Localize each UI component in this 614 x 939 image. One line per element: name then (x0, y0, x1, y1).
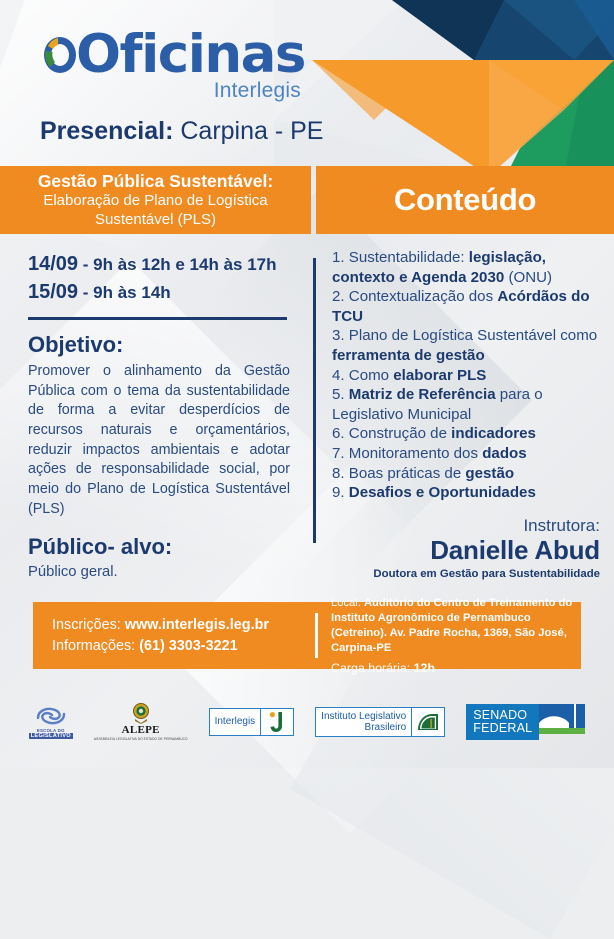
contact-bar: Inscrições: www.interlegis.leg.br Inform… (33, 602, 581, 669)
presencial-line: Presencial: Carpina - PE (40, 117, 323, 146)
venue-info: Local: Auditório do Centro de Treinament… (318, 602, 581, 669)
schedule-time-1: - 9h às 12h e 14h às 17h (78, 255, 276, 274)
list-item: 4. Como elaborar PLS (332, 366, 604, 386)
schedule-date-2: 15/09 (28, 281, 78, 303)
logo-wordmark: Oficinas (76, 28, 305, 81)
topic-bold: Matriz de Referência (349, 386, 496, 403)
list-item: 2. Contextualização dos Acórdãos do TCU (332, 287, 604, 326)
oficinas-logo: Oficinas Interlegis (40, 28, 305, 103)
interlegis-j-glyph (266, 709, 288, 735)
topic-text: Plano de Logística Sustentável como (349, 327, 597, 344)
schedule-time-2: - 9h às 14h (78, 283, 171, 302)
instructor-description: Doutora em Gestão para Sustentabilidade (332, 568, 600, 580)
topic-bold: gestão (465, 465, 514, 482)
objective-heading: Objetivo: (28, 332, 290, 358)
topic-number: 1. (332, 249, 349, 266)
presencial-label: Presencial: (40, 117, 173, 145)
alepe-subtitle: ASSEMBLEIA LEGISLATIVA DO ESTADO DE PERN… (94, 737, 188, 741)
topic-number: 9. (332, 484, 349, 501)
instructor-block: Instrutora: Danielle Abud Doutora em Ges… (332, 517, 604, 580)
schedule-line-2: 15/09 - 9h às 14h (28, 278, 290, 306)
topic-number: 8. (332, 465, 349, 482)
topic-number: 3. (332, 327, 349, 344)
course-title: Gestão Pública Sustentável: (38, 171, 273, 191)
list-item: 8. Boas práticas de gestão (332, 464, 604, 484)
list-item: 6. Construção de indicadores (332, 424, 604, 444)
list-item: 1. Sustentabilidade: legislação, context… (332, 248, 604, 287)
content-topic-list: 1. Sustentabilidade: legislação, context… (332, 248, 604, 503)
schedule-block: 14/09 - 9h às 12h e 14h às 17h 15/09 - 9… (28, 250, 290, 307)
presencial-city: Carpina - PE (173, 117, 323, 145)
list-item: 3. Plano de Logística Sustentável como f… (332, 326, 604, 365)
list-item: 5. Matriz de Referência para o Legislati… (332, 385, 604, 424)
senado-label: SENADO FEDERAL (466, 704, 539, 740)
topic-number: 5. (332, 386, 349, 403)
header-geometric-artwork (274, 0, 614, 176)
senado-building-icon (539, 704, 585, 740)
topic-tail: (ONU) (504, 269, 552, 286)
interlegis-o-mark-icon (40, 33, 80, 77)
info-phone: (61) 3303-3221 (139, 638, 237, 654)
topic-bold: Desafios e Oportunidades (349, 484, 536, 501)
contact-info: Inscrições: www.interlegis.leg.br Inform… (33, 602, 315, 669)
alepe-crest-icon (132, 702, 150, 724)
venue-address: Auditório do Centro de Treinamento do In… (331, 597, 572, 653)
section-divider (28, 317, 287, 320)
content-heading: Conteúdo (394, 182, 536, 218)
topic-bold: indicadores (451, 425, 536, 442)
footer-logo-strip: ESCOLA DO LEGISLATIVO ALEPE ASSEMBLEIA L… (0, 670, 614, 768)
left-column: 14/09 - 9h às 12h e 14h às 17h 15/09 - 9… (28, 250, 290, 580)
instructor-label: Instrutora: (332, 517, 600, 536)
objective-text: Promover o alinhamento da Gestão Pública… (28, 362, 290, 520)
list-item: 7. Monitoramento dos dados (332, 444, 604, 464)
topic-text: Construção de (349, 425, 451, 442)
audience-heading: Público- alvo: (28, 534, 290, 560)
ilb-label-line2: Brasileiro (321, 722, 406, 733)
venue-line: Local: Auditório do Centro de Treinament… (331, 596, 581, 655)
schedule-date-1: 14/09 (28, 253, 78, 275)
topic-text: Como (349, 367, 393, 384)
info-label: Informações: (52, 638, 139, 654)
ilb-congress-glyph (416, 710, 440, 734)
logo-interlegis: Interlegis (209, 708, 295, 736)
topic-text: Contextualização dos (349, 288, 498, 305)
ilb-label: Instituto Legislativo Brasileiro (316, 708, 411, 736)
course-title-bar: Gestão Pública Sustentável: Elaboração d… (0, 166, 311, 234)
logo-senado-federal: SENADO FEDERAL (466, 704, 585, 740)
topic-number: 7. (332, 445, 349, 462)
topic-bold: ferramenta de gestão (332, 347, 485, 364)
topic-bold: dados (482, 445, 526, 462)
audience-text: Público geral. (28, 564, 290, 580)
topic-bold: elaborar PLS (393, 367, 486, 384)
interlegis-j-icon (260, 709, 293, 735)
instructor-name: Danielle Abud (332, 536, 600, 566)
registration-label: Inscrições: (52, 617, 125, 633)
ilb-label-line1: Instituto Legislativo (321, 711, 406, 722)
senado-label-line2: FEDERAL (473, 722, 532, 735)
topic-number: 6. (332, 425, 349, 442)
list-item: 9. Desafios e Oportunidades (332, 483, 604, 503)
ilb-congress-icon (411, 708, 444, 736)
info-line: Informações: (61) 3303-3221 (52, 636, 315, 657)
venue-label: Local: (331, 597, 364, 609)
escola-caption-2: LEGISLATIVO (29, 733, 73, 739)
topic-text: Boas práticas de (349, 465, 466, 482)
registration-line: Inscrições: www.interlegis.leg.br (52, 615, 315, 636)
logo-alepe: ALEPE ASSEMBLEIA LEGISLATIVA DO ESTADO D… (94, 702, 188, 741)
schedule-line-1: 14/09 - 9h às 12h e 14h às 17h (28, 250, 290, 278)
escola-swirl-icon (34, 705, 68, 727)
column-divider (313, 258, 316, 543)
course-subtitle: Elaboração de Plano de Logística Sustent… (10, 192, 301, 229)
alepe-name: ALEPE (122, 724, 160, 736)
logo-escola-do-legislativo: ESCOLA DO LEGISLATIVO (29, 705, 73, 740)
registration-url[interactable]: www.interlegis.leg.br (125, 617, 269, 633)
content-heading-bar: Conteúdo (316, 166, 614, 234)
right-column: 1. Sustentabilidade: legislação, context… (332, 248, 604, 580)
topic-number: 2. (332, 288, 349, 305)
interlegis-label: Interlegis (210, 709, 261, 735)
topic-number: 4. (332, 367, 349, 384)
logo-instituto-legislativo-brasileiro: Instituto Legislativo Brasileiro (315, 707, 445, 737)
topic-text: Monitoramento dos (349, 445, 482, 462)
senado-building-glyph (539, 704, 585, 734)
topic-text: Sustentabilidade: (349, 249, 469, 266)
